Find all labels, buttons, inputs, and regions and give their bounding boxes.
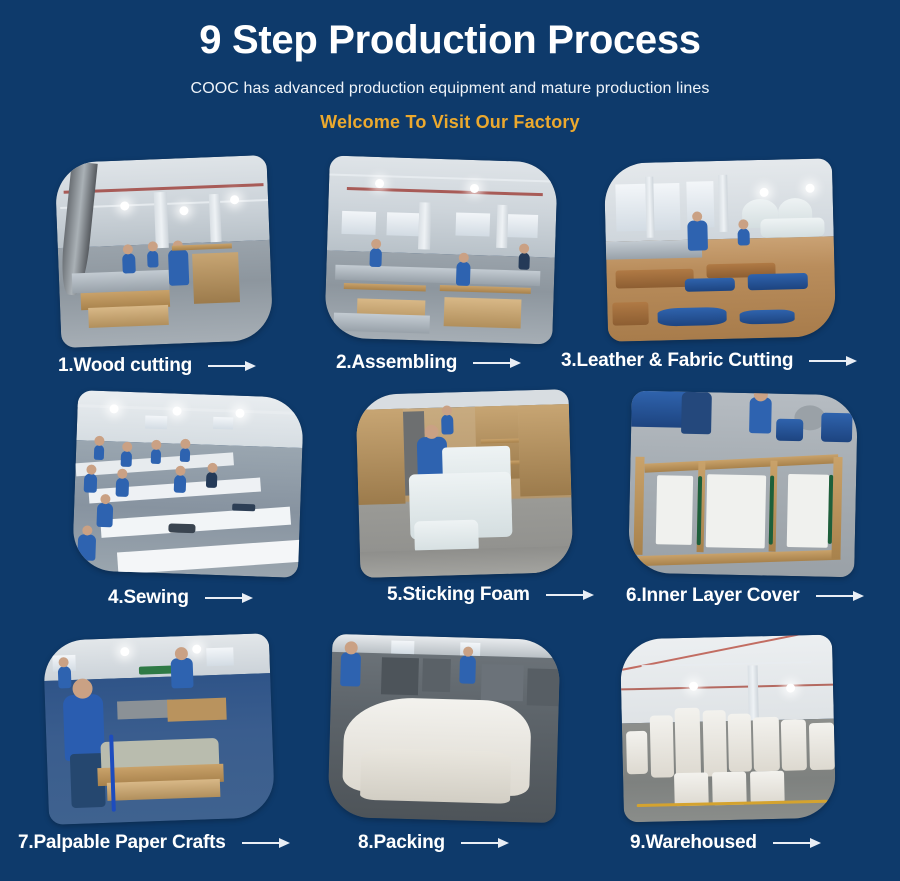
step-card-6[interactable]: 6.Inner Layer Cover	[630, 393, 856, 575]
step-card-5[interactable]: 5.Sticking Foam	[358, 392, 571, 575]
arrow-right-icon	[809, 355, 857, 367]
steps-row-3: 7.Palpable Paper Crafts	[0, 635, 900, 875]
step-label-6: 6.Inner Layer Cover	[626, 585, 800, 607]
page-title: 9 Step Production Process	[0, 18, 900, 63]
photo-scene-palpable-paper-crafts	[43, 633, 275, 825]
step-photo-2[interactable]	[324, 155, 558, 344]
step-caption-2: 2.Assembling	[336, 352, 521, 374]
step-photo-3[interactable]	[604, 158, 836, 342]
step-label-8: 8.Packing	[358, 832, 445, 854]
photo-scene-sticking-foam	[355, 389, 573, 578]
step-photo-6[interactable]	[628, 390, 858, 577]
arrow-right-icon	[546, 589, 594, 601]
arrow-right-icon	[473, 357, 521, 369]
photo-scene-assembling	[324, 155, 558, 344]
photo-scene-inner-layer-cover	[628, 390, 858, 577]
arrow-right-icon	[208, 360, 256, 372]
step-label-4: 4.Sewing	[108, 587, 189, 609]
step-caption-3: 3.Leather & Fabric Cutting	[561, 350, 857, 372]
page-tagline: Welcome To Visit Our Factory	[0, 112, 900, 133]
step-label-3: 3.Leather & Fabric Cutting	[561, 350, 793, 372]
step-caption-9: 9.Warehoused	[630, 832, 821, 854]
step-card-4[interactable]: 4.Sewing	[75, 394, 301, 574]
production-process-banner: 9 Step Production Process COOC has advan…	[0, 0, 900, 881]
arrow-right-icon	[242, 837, 290, 849]
step-card-9[interactable]: 9.Warehoused	[622, 637, 834, 820]
photo-scene-wood-cutting	[55, 155, 274, 348]
step-caption-6: 6.Inner Layer Cover	[626, 585, 864, 607]
step-card-2[interactable]: 2.Assembling	[327, 159, 555, 341]
step-label-2: 2.Assembling	[336, 352, 457, 374]
photo-scene-leather-fabric-cutting	[604, 158, 836, 342]
step-caption-8: 8.Packing	[358, 832, 509, 854]
steps-grid: 1.Wood cutting	[0, 155, 900, 875]
arrow-right-icon	[773, 837, 821, 849]
step-label-5: 5.Sticking Foam	[387, 584, 530, 606]
step-photo-8[interactable]	[327, 634, 560, 823]
step-label-1: 1.Wood cutting	[58, 355, 192, 377]
step-caption-5: 5.Sticking Foam	[387, 584, 594, 606]
arrow-right-icon	[461, 837, 509, 849]
step-caption-1: 1.Wood cutting	[58, 355, 256, 377]
step-photo-4[interactable]	[72, 390, 304, 578]
step-caption-7: 7.Palpable Paper Crafts	[18, 832, 290, 854]
step-photo-7[interactable]	[43, 633, 275, 825]
step-photo-1[interactable]	[55, 155, 274, 348]
photo-scene-packing	[327, 634, 560, 823]
step-card-1[interactable]: 1.Wood cutting	[58, 159, 270, 344]
page-subtitle: COOC has advanced production equipment a…	[0, 80, 900, 98]
steps-row-1: 1.Wood cutting	[0, 155, 900, 395]
steps-row-2: 4.Sewing	[0, 395, 900, 635]
step-photo-9[interactable]	[620, 634, 836, 822]
step-label-7: 7.Palpable Paper Crafts	[18, 832, 226, 854]
step-caption-4: 4.Sewing	[108, 587, 253, 609]
photo-scene-sewing	[72, 390, 304, 578]
banner-header: 9 Step Production Process COOC has advan…	[0, 0, 900, 133]
step-card-7[interactable]: 7.Palpable Paper Crafts	[46, 637, 272, 821]
step-label-9: 9.Warehoused	[630, 832, 757, 854]
arrow-right-icon	[205, 592, 253, 604]
step-card-3[interactable]: 3.Leather & Fabric Cutting	[606, 161, 834, 339]
step-card-8[interactable]: 8.Packing	[330, 637, 558, 820]
step-photo-5[interactable]	[355, 389, 573, 578]
arrow-right-icon	[816, 590, 864, 602]
photo-scene-warehoused	[620, 634, 836, 822]
